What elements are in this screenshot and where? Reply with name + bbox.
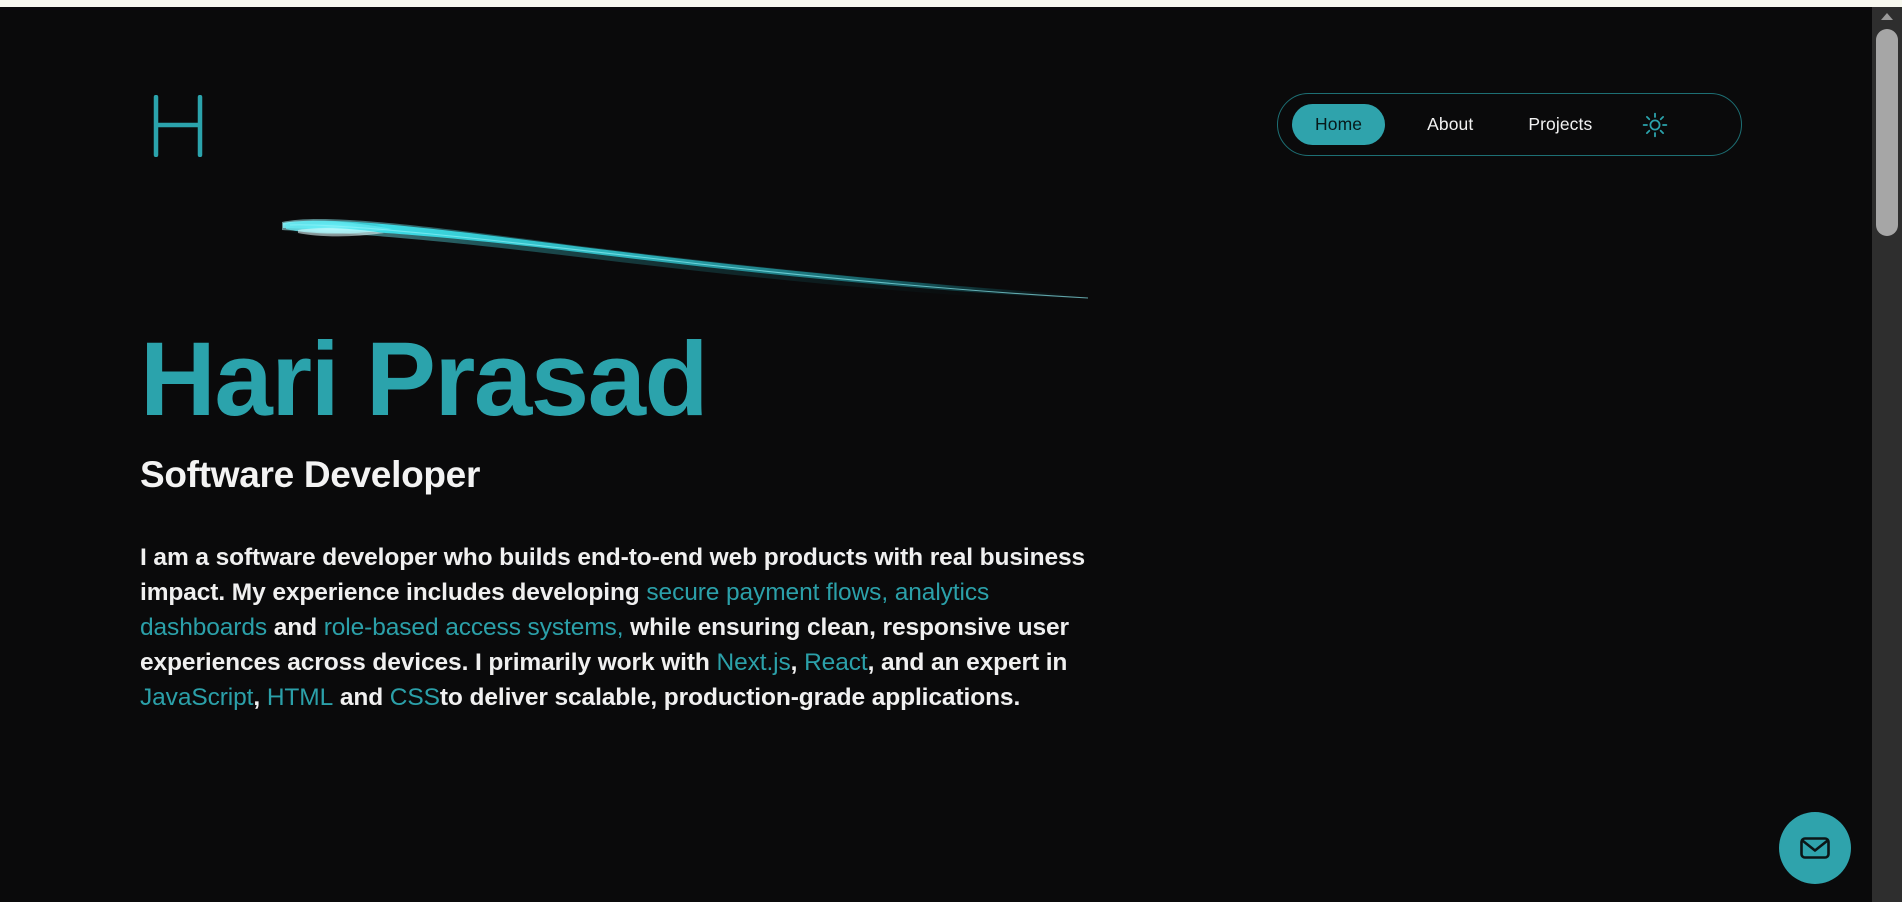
sun-icon [1642, 112, 1668, 138]
hero-description-text: , and an expert in [868, 649, 1068, 676]
hero-description-text: to deliver scalable, production-grade ap… [440, 684, 1020, 711]
hero-description-text: and [333, 684, 390, 711]
hero-subtitle: Software Developer [140, 454, 1100, 496]
site-logo[interactable] [150, 95, 206, 157]
letter-h-monogram-icon [150, 95, 206, 157]
page-title: Hari Prasad [140, 327, 1100, 432]
hero-description-highlight: CSS [390, 684, 440, 711]
hero-description-highlight: React [804, 649, 868, 676]
hero-section: Hari Prasad Software Developer I am a so… [140, 327, 1100, 715]
page-scrollbar[interactable] [1872, 7, 1902, 902]
hero-description-text: , [791, 649, 804, 676]
contact-fab-button[interactable] [1779, 812, 1851, 884]
main-navigation: Home About Projects [1277, 93, 1742, 156]
hero-description-highlight: Next.js [716, 649, 790, 676]
scrollbar-thumb[interactable] [1876, 29, 1898, 236]
hero-description: I am a software developer who builds end… [140, 540, 1090, 715]
hero-description-text: , [253, 684, 266, 711]
browser-top-strip [0, 0, 1902, 7]
page-viewport: Home About Projects [0, 7, 1872, 902]
nav-item-home[interactable]: Home [1292, 104, 1385, 145]
hero-description-highlight: HTML [267, 684, 333, 711]
comet-swoosh-icon [280, 212, 1110, 327]
scrollbar-up-arrow-icon[interactable] [1872, 7, 1902, 25]
hero-description-highlight: role-based access systems, [324, 614, 624, 641]
envelope-icon [1798, 831, 1832, 865]
nav-item-about[interactable]: About [1427, 114, 1473, 135]
theme-toggle-button[interactable] [1640, 110, 1670, 140]
hero-description-highlight: JavaScript [140, 684, 253, 711]
nav-item-projects[interactable]: Projects [1528, 114, 1592, 135]
hero-description-text: and [267, 614, 324, 641]
comet-swoosh-decoration [280, 212, 1110, 327]
